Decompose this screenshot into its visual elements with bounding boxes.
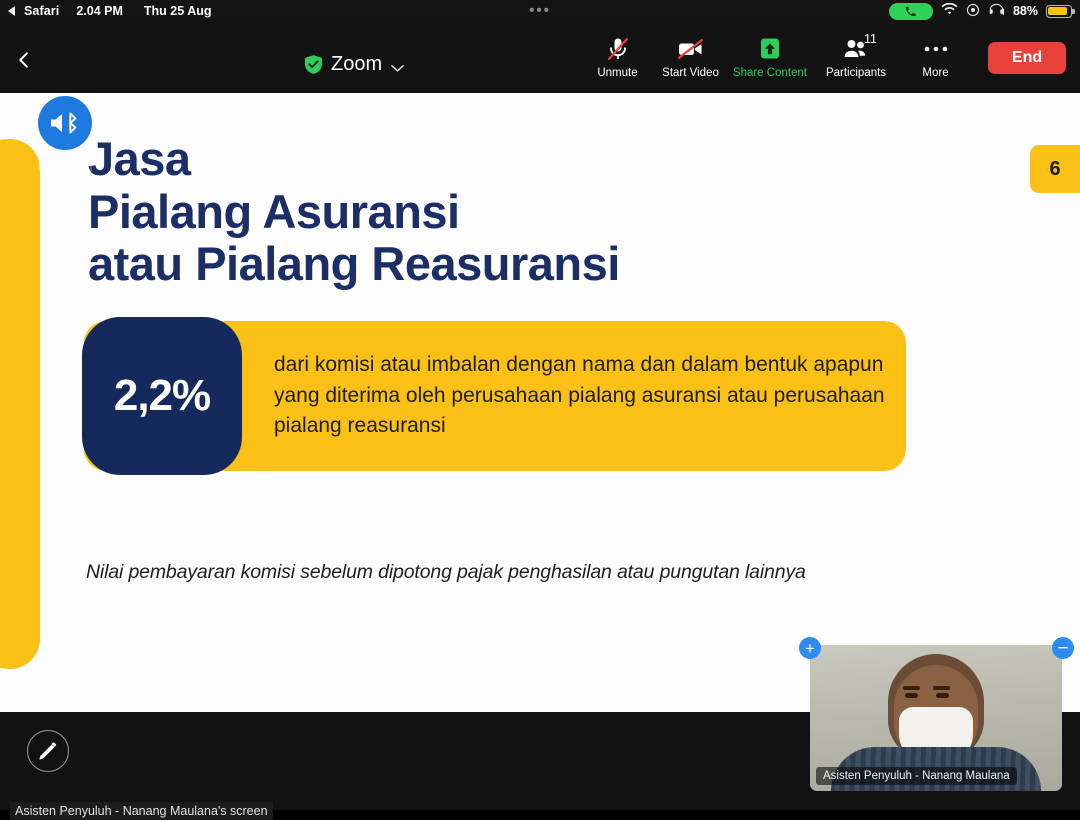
status-bar-dots-icon: ••• bbox=[529, 2, 551, 19]
video-person-eye-left bbox=[905, 693, 918, 698]
video-person-brow-left bbox=[903, 686, 920, 690]
expand-video-button[interactable]: + bbox=[799, 637, 821, 659]
bluetooth-toast: Bluetooth bbox=[20, 93, 110, 174]
start-video-label: Start Video bbox=[662, 67, 719, 79]
headphones-icon bbox=[988, 3, 1005, 20]
share-content-button[interactable]: Share Content bbox=[727, 27, 813, 89]
end-meeting-button[interactable]: End bbox=[988, 42, 1066, 74]
slide-left-accent-bar bbox=[0, 139, 40, 669]
bluetooth-volume-icon bbox=[38, 96, 92, 150]
zoom-toolbar: Zoom Unmute bbox=[0, 22, 1080, 93]
video-off-icon bbox=[676, 36, 706, 62]
share-screen-icon bbox=[757, 36, 783, 62]
wifi-icon bbox=[941, 3, 958, 19]
slide-heading-line-3: atau Pialang Reasuransi bbox=[88, 238, 620, 291]
bluetooth-toast-label: Bluetooth bbox=[20, 159, 110, 174]
video-person-eye-right bbox=[936, 693, 949, 698]
more-button[interactable]: More bbox=[899, 27, 972, 89]
slide-callout-box: 2,2% dari komisi atau imbalan dengan nam… bbox=[84, 321, 906, 471]
start-video-button[interactable]: Start Video bbox=[654, 27, 727, 89]
collapse-video-button[interactable]: − bbox=[1052, 637, 1074, 659]
back-to-app-icon[interactable] bbox=[8, 6, 15, 16]
slide-heading-line-1: Jasa bbox=[88, 133, 620, 186]
ios-status-bar: Safari 2.04 PM Thu 25 Aug ••• 88% bbox=[0, 0, 1080, 22]
more-label: More bbox=[922, 67, 948, 79]
status-bar-left: Safari 2.04 PM Thu 25 Aug bbox=[0, 4, 212, 18]
participants-label: Participants bbox=[826, 67, 886, 79]
slide-heading: Jasa Pialang Asuransi atau Pialang Reasu… bbox=[88, 133, 620, 291]
unmute-label: Unmute bbox=[597, 67, 637, 79]
battery-icon bbox=[1046, 5, 1072, 18]
chevron-down-icon bbox=[391, 60, 404, 69]
meeting-title: Zoom bbox=[331, 53, 382, 76]
participants-icon: 11 bbox=[836, 36, 876, 62]
status-bar-right: 88% bbox=[889, 0, 1072, 22]
rotation-lock-icon bbox=[966, 3, 980, 20]
slide-footnote: Nilai pembayaran komisi sebelum dipotong… bbox=[86, 561, 806, 584]
unmute-button[interactable]: Unmute bbox=[581, 27, 654, 89]
shared-screen-content[interactable]: Jasa Pialang Asuransi atau Pialang Reasu… bbox=[0, 93, 1080, 712]
battery-percent-label: 88% bbox=[1013, 4, 1038, 18]
meeting-title-dropdown[interactable]: Zoom bbox=[305, 53, 404, 76]
self-video-thumbnail[interactable]: Asisten Penyuluh - Nanang Maulana bbox=[810, 645, 1062, 791]
participants-count-badge: 11 bbox=[864, 32, 877, 46]
status-bar-date: Thu 25 Aug bbox=[144, 4, 212, 18]
back-button[interactable] bbox=[14, 50, 34, 70]
share-content-label: Share Content bbox=[733, 67, 807, 79]
video-person-brow-right bbox=[933, 686, 950, 690]
status-bar-time: 2.04 PM bbox=[76, 4, 123, 18]
annotate-button[interactable] bbox=[27, 730, 69, 772]
percentage-badge: 2,2% bbox=[82, 317, 242, 475]
active-call-icon[interactable] bbox=[889, 3, 933, 20]
screen-share-status-label: Asisten Penyuluh - Nanang Maulana's scre… bbox=[10, 802, 273, 820]
callout-description: dari komisi atau imbalan dengan nama dan… bbox=[274, 350, 888, 441]
participants-button[interactable]: 11 Participants bbox=[813, 27, 899, 89]
video-participant-name: Asisten Penyuluh - Nanang Maulana bbox=[816, 767, 1017, 785]
slide-heading-line-2: Pialang Asuransi bbox=[88, 186, 620, 239]
ellipsis-icon bbox=[923, 36, 949, 62]
slide-page-number-badge: 6 bbox=[1030, 145, 1080, 193]
mic-muted-icon bbox=[605, 36, 631, 62]
toolbar-actions: Unmute Start Video Share Content bbox=[581, 22, 1080, 93]
back-to-app-label[interactable]: Safari bbox=[24, 4, 59, 18]
shield-check-icon bbox=[305, 55, 322, 74]
